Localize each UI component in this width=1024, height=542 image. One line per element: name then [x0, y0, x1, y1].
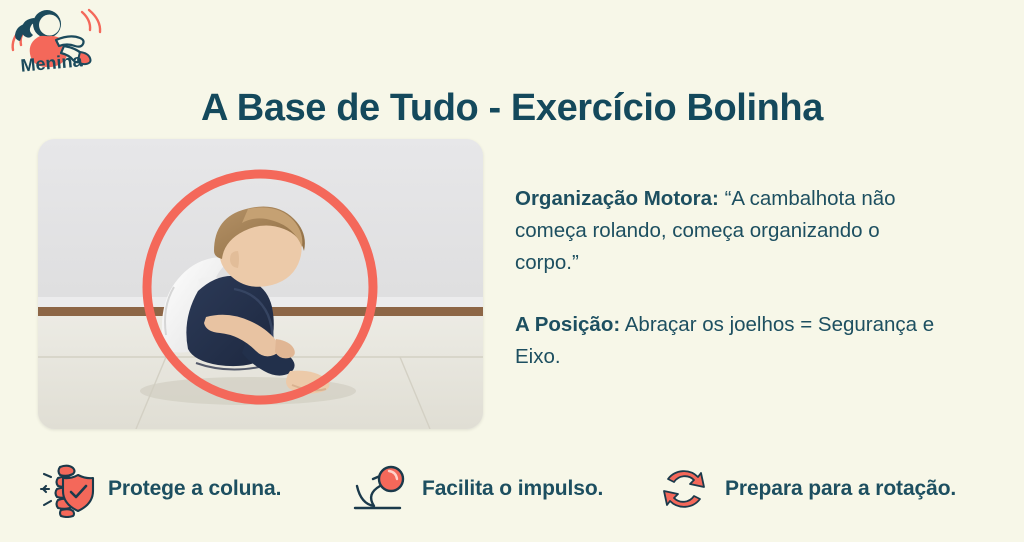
brand-name-text: Menina: [20, 50, 84, 74]
rotation-arrows-icon: [655, 460, 713, 518]
benefit-item-facilita-o-impulso: Facilita o impulso.: [352, 448, 603, 530]
paragraph-lead-1: A Posição:: [515, 313, 620, 336]
benefits-row: Protege a coluna. Facili: [0, 448, 1024, 530]
paragraph-a-posicao: A Posição: Abraçar os joelhos = Seguranç…: [515, 309, 945, 373]
child-tuck-position-photo: [38, 139, 483, 429]
spine-shield-check-icon: [38, 460, 96, 518]
benefit-label-1: Facilita o impulso.: [422, 477, 603, 501]
benefit-item-protege-a-coluna: Protege a coluna.: [38, 448, 281, 530]
bouncing-ball-arrow-icon: [352, 460, 410, 518]
brand-logo: Menina: [4, 2, 108, 74]
slide-canvas: Menina A Base de Tudo - Exercício Bolinh…: [0, 0, 1024, 542]
page-title: A Base de Tudo - Exercício Bolinha: [0, 85, 1024, 131]
photo-card: [38, 139, 483, 429]
benefit-label-0: Protege a coluna.: [108, 477, 281, 501]
paragraph-lead-0: Organização Motora:: [515, 187, 719, 210]
girl-tuck-position-logo-icon: Menina: [4, 2, 108, 74]
benefit-item-prepara-para-a-rotacao: Prepara para a rotação.: [655, 448, 956, 530]
benefit-label-2: Prepara para a rotação.: [725, 477, 956, 501]
description-text-block: Organização Motora: “A cambalhota não co…: [515, 183, 945, 373]
paragraph-organizacao-motora: Organização Motora: “A cambalhota não co…: [515, 183, 945, 279]
